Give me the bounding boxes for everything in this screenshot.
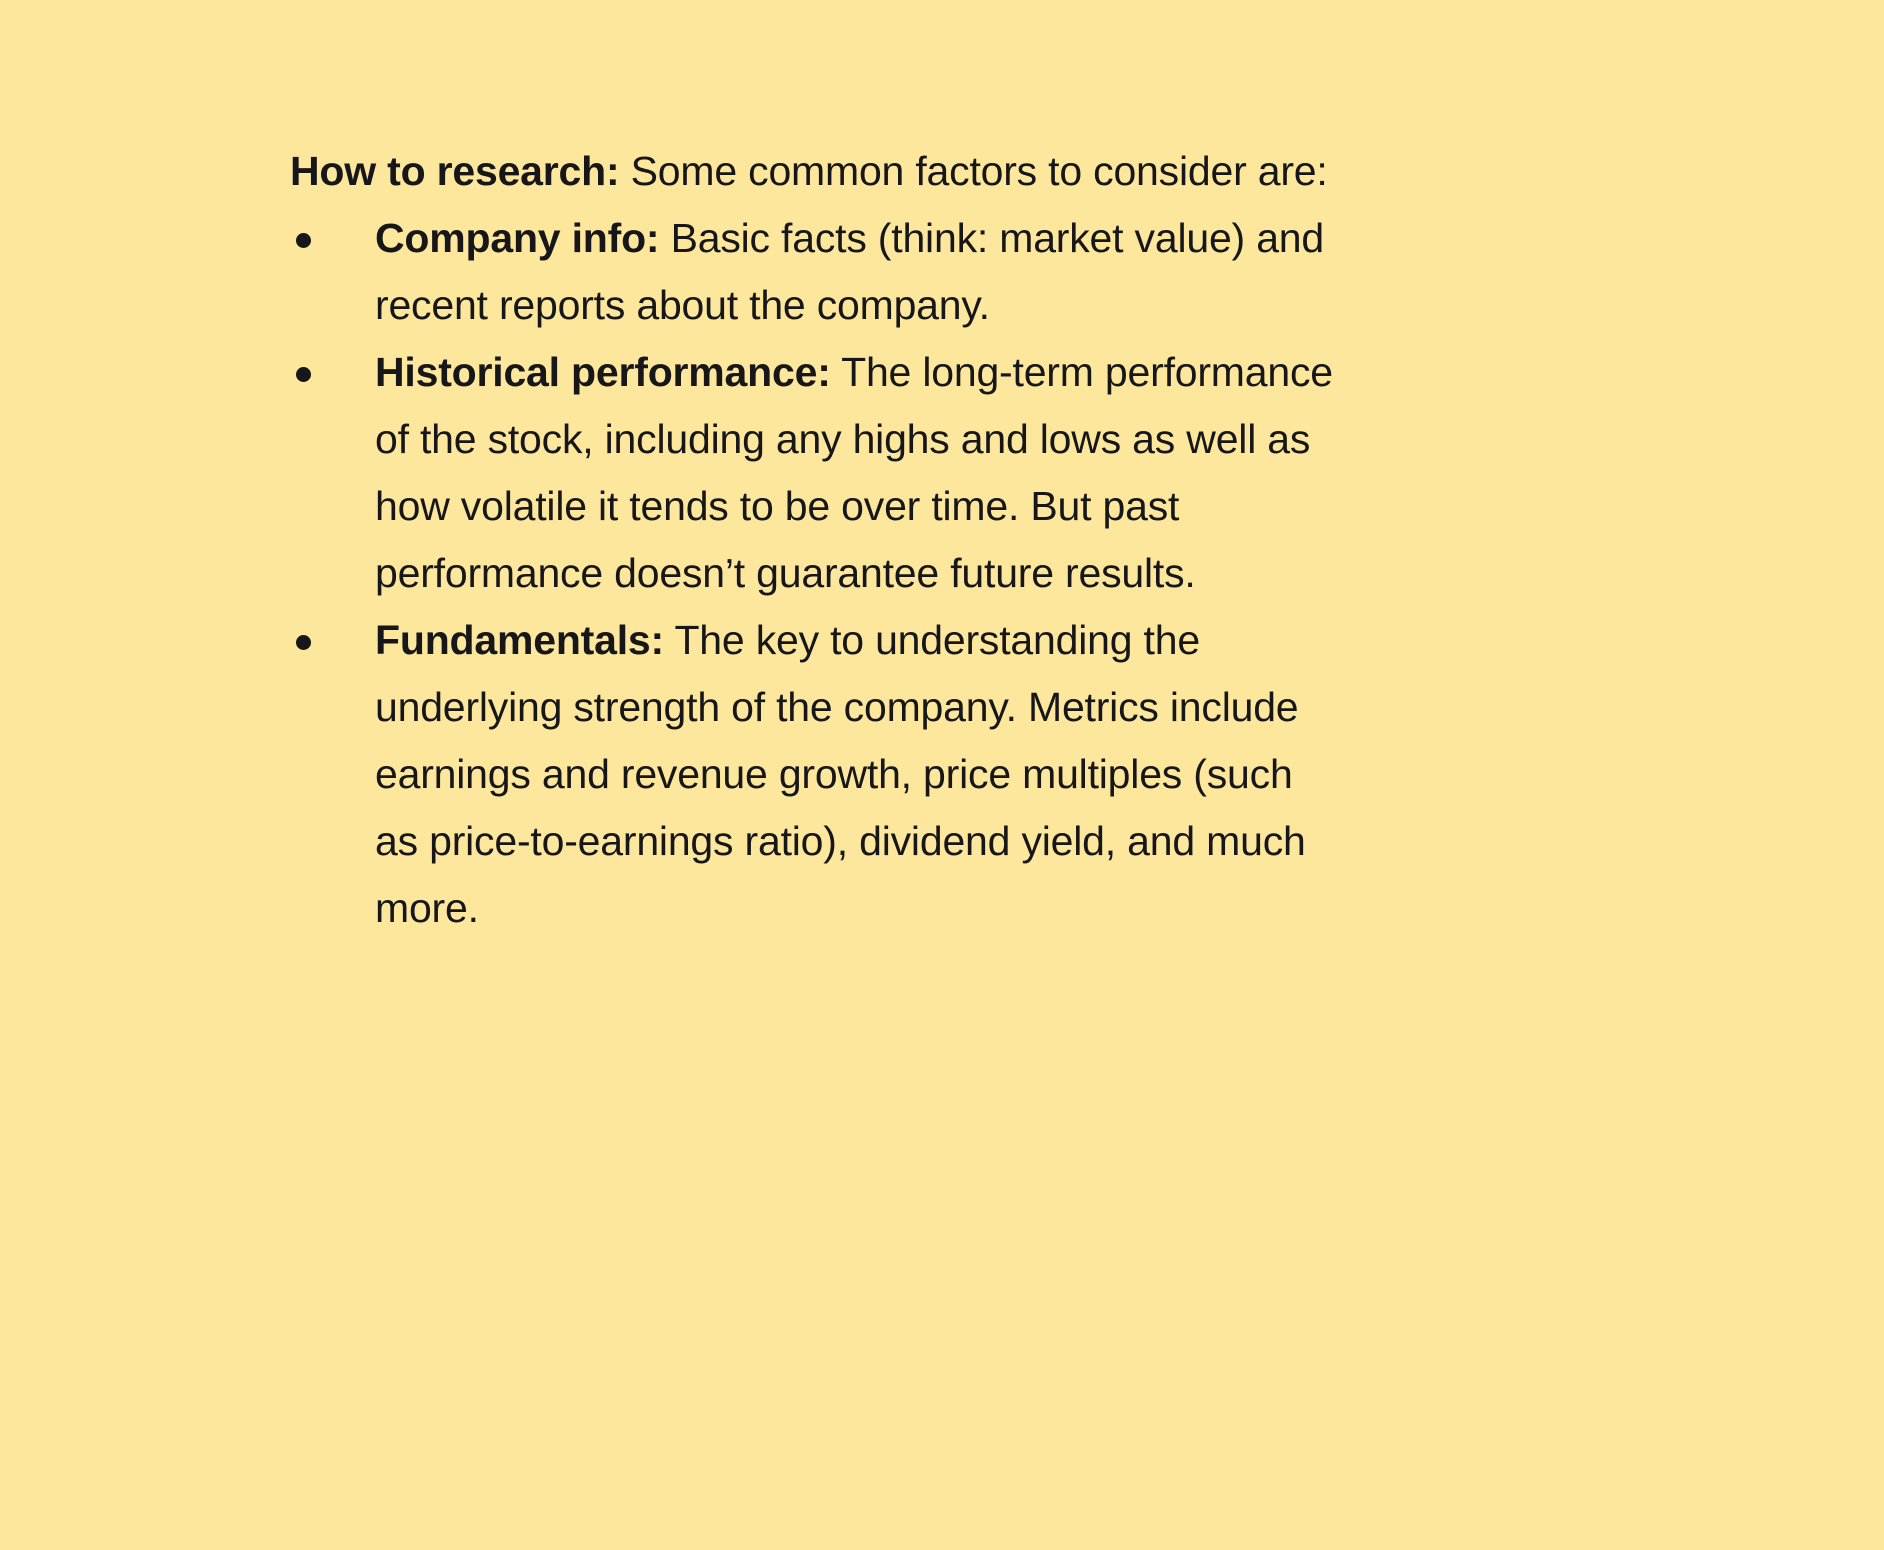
research-factors-list: Company info: Basic facts (think: market… (290, 205, 1336, 942)
list-item-lead-in: Company info: (375, 215, 659, 261)
list-item-lead-in: Fundamentals: (375, 617, 664, 663)
text-content-block: How to research: Some common factors to … (290, 138, 1336, 942)
list-item: Fundamentals: The key to understanding t… (290, 607, 1336, 942)
bullet-dot-icon (296, 367, 311, 382)
intro-body-text: Some common factors to consider are: (619, 148, 1327, 194)
bullet-dot-icon (296, 233, 311, 248)
list-item-lead-in: Historical performance: (375, 349, 831, 395)
document-page: How to research: Some common factors to … (0, 0, 1884, 1550)
list-item: Historical performance: The long-term pe… (290, 339, 1336, 607)
intro-lead-in: How to research: (290, 148, 619, 194)
bullet-dot-icon (296, 635, 311, 650)
intro-paragraph: How to research: Some common factors to … (290, 138, 1336, 205)
list-item-body-text: The key to understanding the underlying … (375, 617, 1306, 931)
list-item: Company info: Basic facts (think: market… (290, 205, 1336, 339)
